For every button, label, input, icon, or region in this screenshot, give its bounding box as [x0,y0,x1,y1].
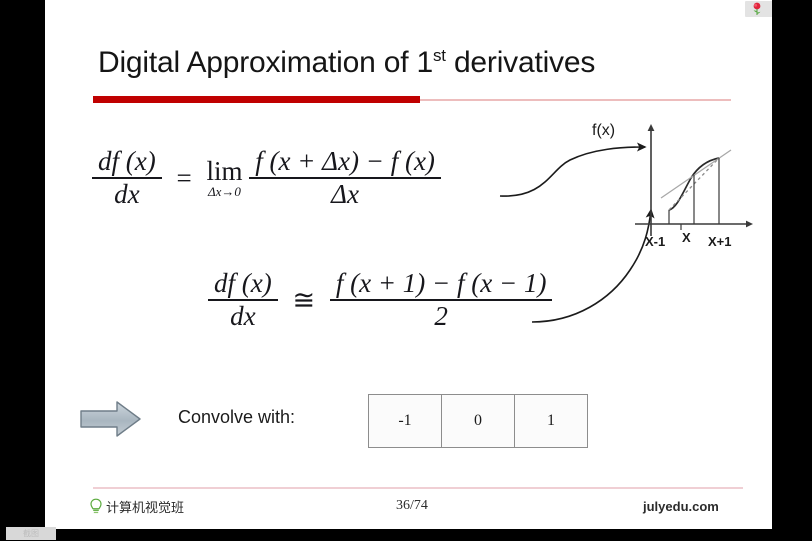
graph-xlabel-xplus1: X+1 [708,234,732,249]
screen: Digital Approximation of 1st derivatives… [0,0,812,541]
equation-limit-definition: df (x) dx = lim Δx→0 f (x + Δx) − f (x) … [92,146,441,210]
eq1-lhs-denominator: dx [92,177,162,210]
eq2-rhs-denominator: 2 [330,299,553,332]
slide-surface: Digital Approximation of 1st derivatives… [45,0,772,529]
eq2-lhs-fraction: df (x) dx [208,268,278,332]
rose-badge[interactable] [745,1,772,17]
kernel-cell: -1 [369,395,442,447]
footer-brand: julyedu.com [643,496,719,516]
eq1-limit-operator: lim Δx→0 [206,157,242,200]
screen-watermark: 截图 [6,527,56,540]
footer-course-label: 计算机视觉班 [106,497,184,516]
eq1-relation: = [168,163,199,194]
graph-xlabel-x: X [682,230,691,245]
footer-page-number: 36/74 [396,496,428,516]
eq1-rhs-fraction: f (x + Δx) − f (x) Δx [249,146,441,210]
eq2-lhs-numerator: df (x) [208,268,278,299]
lightbulb-icon [89,498,103,515]
footer-divider [93,487,743,489]
kernel-cell: 1 [515,395,587,447]
convolution-kernel-table: -1 0 1 [368,394,588,448]
convolve-label: Convolve with: [178,407,295,428]
eq1-lhs-numerator: df (x) [92,146,162,177]
equation-discrete-approximation: df (x) dx ≅ f (x + 1) − f (x − 1) 2 [208,268,552,332]
block-arrow-right-icon [78,398,144,440]
footer-course: 计算机视觉班 [89,496,184,516]
eq1-limit-word: lim [206,157,242,185]
eq2-rhs-fraction: f (x + 1) − f (x − 1) 2 [330,268,553,332]
rose-icon [751,2,763,16]
eq2-lhs-denominator: dx [208,299,278,332]
eq2-rhs-numerator: f (x + 1) − f (x − 1) [330,268,553,299]
graph-xlabel-xminus1: X-1 [645,234,665,249]
title-underline-accent [93,96,420,103]
eq2-relation: ≅ [284,285,323,316]
derivative-diagram: f(x) X-1 X [585,120,770,260]
title-tail: derivatives [446,46,595,79]
page-title: Digital Approximation of 1st derivatives [98,46,738,80]
eq1-rhs-numerator: f (x + Δx) − f (x) [249,146,441,177]
kernel-cell: 0 [442,395,515,447]
eq1-limit-subscript: Δx→0 [206,185,242,199]
title-main: Digital Approximation of 1 [98,46,433,79]
eq1-lhs-fraction: df (x) dx [92,146,162,210]
title-superscript: st [433,46,446,65]
graph-canvas [585,120,770,260]
eq1-rhs-denominator: Δx [249,177,441,210]
